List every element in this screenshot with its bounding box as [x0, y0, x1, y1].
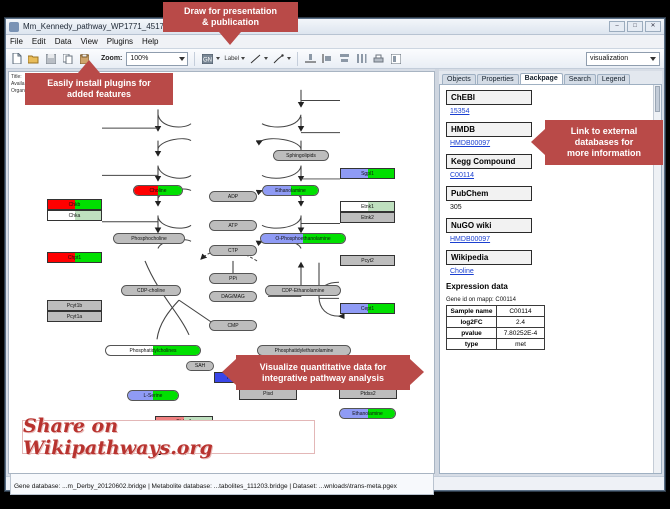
node-label: Etnk1 — [361, 204, 374, 210]
menu-edit[interactable]: Edit — [32, 37, 46, 46]
zoom-value: 100% — [130, 55, 148, 62]
pathway-canvas[interactable]: Title: Availa Organi — [8, 71, 435, 474]
node-label: Phosphatidylethanolamine — [275, 348, 334, 354]
status-bar: Gene database: ...m_Derby_20120602.bridg… — [6, 476, 664, 490]
node-label: CDP-Ethanolamine — [282, 288, 325, 294]
annotation-draw-arrow — [219, 32, 241, 45]
copy-icon[interactable] — [61, 52, 74, 65]
db-heading-pubchem: PubChem — [446, 186, 532, 201]
node-label: Pcyt2 — [361, 258, 374, 264]
annotation-links-arrow — [531, 129, 545, 155]
maximize-button[interactable]: □ — [627, 21, 643, 32]
expression-key: pvalue — [447, 328, 497, 339]
chevron-down-icon — [650, 57, 656, 61]
node-label: Phosphocholine — [131, 236, 167, 242]
annotation-draw-line2: & publication — [202, 17, 259, 28]
db-heading-chebi: ChEBI — [446, 90, 532, 105]
table-row: pvalue7.80252E-4 — [447, 328, 545, 339]
metabolite-ppi[interactable]: PPi — [209, 273, 257, 284]
node-label: ADP — [228, 194, 238, 200]
anchor-line-icon[interactable] — [272, 52, 285, 65]
annotation-links-line1: Link to external — [571, 126, 638, 137]
metabolite-cmp[interactable]: CMP — [209, 320, 257, 331]
new-file-icon[interactable] — [10, 52, 23, 65]
gene-pcyt1a[interactable]: Pcyt1a — [47, 311, 102, 322]
chevron-down-icon[interactable] — [241, 57, 245, 60]
toolbar-separator — [297, 52, 298, 66]
node-label: Pisd — [263, 391, 273, 397]
tab-backpage[interactable]: Backpage — [520, 73, 563, 84]
annotation-visualize-arrow-right — [410, 359, 424, 385]
side-panel-tabs: Objects Properties Backpage Search Legen… — [439, 71, 662, 85]
expression-value: C00114 — [497, 306, 545, 317]
gene-pcyt1b[interactable]: Pcyt1b — [47, 300, 102, 311]
metabolite-cdp-choline[interactable]: CDP-choline — [121, 285, 181, 296]
db-value-pubchem: 305 — [450, 204, 655, 211]
annotation-visualize: Visualize quantitative data for integrat… — [236, 355, 410, 390]
datanode-icon[interactable]: GN — [201, 52, 214, 65]
table-row: typemet — [447, 339, 545, 350]
tab-search[interactable]: Search — [564, 74, 596, 84]
metabolite-dag-mag[interactable]: DAG/MAG — [209, 291, 257, 302]
tab-legend[interactable]: Legend — [597, 74, 630, 84]
db-link-wikipedia[interactable]: Choline — [450, 268, 655, 275]
datanode-tool[interactable]: GN — [201, 52, 220, 65]
node-label: Choline — [150, 188, 167, 194]
menu-file[interactable]: File — [10, 37, 23, 46]
expression-value: met — [497, 339, 545, 350]
node-label: Sgpl1 — [361, 171, 374, 177]
close-button[interactable]: ✕ — [645, 21, 661, 32]
tab-properties[interactable]: Properties — [477, 74, 519, 84]
metabolite-ctp[interactable]: CTP — [209, 245, 257, 256]
gene-chpt1[interactable]: Chpt1 — [47, 252, 102, 263]
node-label: Sphingolipids — [286, 153, 316, 159]
metabolite-adp[interactable]: ADP — [209, 191, 257, 202]
visualization-value: visualization — [590, 55, 628, 62]
annotation-plugins-line1: Easily install plugins for — [47, 78, 151, 89]
node-label: L-Serine — [144, 393, 163, 399]
status-text-container: Gene database: ...m_Derby_20120602.bridg… — [10, 473, 434, 495]
expression-key: Sample name — [447, 306, 497, 317]
zoom-combobox[interactable]: 100% — [126, 52, 188, 66]
open-folder-icon[interactable] — [27, 52, 40, 65]
node-label: O-Phosphoethanolamine — [275, 236, 330, 242]
minimize-button[interactable]: – — [609, 21, 625, 32]
align-left-icon[interactable] — [321, 52, 334, 65]
metabolite-phosphatidylcholines[interactable]: Phosphatidylcholines — [105, 345, 201, 356]
menu-view[interactable]: View — [81, 37, 98, 46]
menu-plugins[interactable]: Plugins — [107, 37, 133, 46]
svg-text:GN: GN — [203, 57, 212, 63]
stack-center-icon[interactable] — [338, 52, 351, 65]
gene-pcyt2[interactable]: Pcyt2 — [340, 255, 395, 266]
db-heading-hmdb: HMDB — [446, 122, 532, 137]
metabolite-phosphocholine[interactable]: Phosphocholine — [113, 233, 185, 244]
expression-data-heading: Expression data — [446, 282, 655, 291]
node-label: Chpt1 — [68, 255, 81, 261]
tab-objects[interactable]: Objects — [442, 74, 476, 84]
menu-data[interactable]: Data — [55, 37, 72, 46]
node-label: SAH — [195, 363, 205, 369]
annotation-draw-line1: Draw for presentation — [184, 6, 277, 17]
node-label: Ethanolamine — [352, 411, 383, 417]
toolbar: Zoom: 100% GN Label — [6, 49, 664, 69]
annotation-links-line3: more information — [567, 148, 641, 159]
expression-table: Sample nameC00114log2FC2.4pvalue7.80252E… — [446, 305, 545, 350]
gene-chkb[interactable]: Chkb — [47, 199, 102, 210]
metabolite-sah[interactable]: SAH — [186, 361, 214, 371]
annotation-share: Share on Wikipathways.org — [22, 420, 315, 454]
table-row: log2FC2.4 — [447, 317, 545, 328]
expression-value: 7.80252E-4 — [497, 328, 545, 339]
node-label: Pcyt1b — [67, 303, 82, 309]
node-label: Etnk2 — [361, 215, 374, 221]
metabolite-sphingolipids[interactable]: Sphingolipids — [273, 150, 329, 161]
node-label: PPi — [229, 276, 237, 282]
gene-cept1[interactable]: Cept1 — [340, 303, 395, 314]
gene-id-line: Gene id on mapp: C00114 — [446, 297, 655, 303]
node-label: CMP — [227, 323, 238, 329]
db-link-nugo-wiki[interactable]: HMDB00097 — [450, 236, 655, 243]
anchor-line-tool[interactable] — [272, 52, 291, 65]
line-icon[interactable] — [249, 52, 262, 65]
node-label: Cept1 — [361, 306, 374, 312]
db-link-chebi[interactable]: 15354 — [450, 108, 655, 115]
metabolite-l-serine-left[interactable]: L-Serine — [127, 390, 179, 401]
node-label: Pcyt1a — [67, 314, 82, 320]
annotation-links: Link to external databases for more info… — [545, 120, 663, 165]
distribute-icon[interactable] — [355, 52, 368, 65]
node-label: Chkb — [69, 202, 81, 208]
label-tool[interactable]: Label — [224, 56, 245, 62]
gene-sgpl1[interactable]: Sgpl1 — [340, 168, 395, 179]
title-bar: Mm_Kennedy_pathway_WP1771_45176.gpml – □… — [6, 19, 664, 35]
gene-etnk2[interactable]: Etnk2 — [340, 212, 395, 223]
scrollbar-thumb[interactable] — [655, 86, 660, 112]
node-label: DAG/MAG — [221, 294, 245, 300]
expression-key: type — [447, 339, 497, 350]
db-heading-kegg-compound: Kegg Compound — [446, 154, 532, 169]
annotation-visualize-arrow-left — [222, 359, 236, 385]
db-heading-nugo-wiki: NuGO wiki — [446, 218, 532, 233]
toolbar-separator — [194, 52, 195, 66]
metabolite-ethanolamine-top[interactable]: Ethanolamine — [262, 185, 319, 196]
menu-help[interactable]: Help — [142, 37, 158, 46]
line-tool[interactable] — [249, 52, 268, 65]
align-bottom-icon[interactable] — [304, 52, 317, 65]
chevron-down-icon[interactable] — [216, 57, 220, 60]
print-icon[interactable] — [372, 52, 385, 65]
app-icon — [9, 22, 19, 32]
annotation-links-line2: databases for — [575, 137, 634, 148]
database-sections: ChEBI15354HMDBHMDB00097Kegg CompoundC001… — [446, 90, 655, 275]
gene-chka[interactable]: Chka — [47, 210, 102, 221]
node-label: Ptdss2 — [360, 391, 375, 397]
chevron-down-icon[interactable] — [287, 57, 291, 60]
metabolite-choline-top[interactable]: Choline — [133, 185, 183, 196]
annotation-draw: Draw for presentation & publication — [163, 2, 298, 32]
annotation-plugins-line2: added features — [67, 89, 131, 100]
expression-value: 2.4 — [497, 317, 545, 328]
db-heading-wikipedia: Wikipedia — [446, 250, 532, 265]
expression-key: log2FC — [447, 317, 497, 328]
gene-etnk1[interactable]: Etnk1 — [340, 201, 395, 212]
label-tool-text: Label — [224, 56, 239, 62]
annotation-visualize-line2: integrative pathway analysis — [262, 373, 384, 384]
chevron-down-icon — [179, 57, 185, 61]
node-label: Chka — [69, 213, 81, 219]
node-label: CDP-choline — [137, 288, 165, 294]
status-text: Gene database: ...m_Derby_20120602.bridg… — [14, 483, 397, 490]
node-label: Ethanolamine — [275, 188, 306, 194]
metabolite-cdp-ethanolamine[interactable]: CDP-Ethanolamine — [265, 285, 341, 296]
annotation-share-text: Share on Wikipathways.org — [23, 415, 314, 459]
table-row: Sample nameC00114 — [447, 306, 545, 317]
menu-bar: File Edit Data View Plugins Help — [6, 35, 664, 49]
node-label: Phosphatidylcholines — [130, 348, 177, 354]
node-label: CTP — [228, 248, 238, 254]
metabolite-ethanolamine-right[interactable]: Ethanolamine — [339, 408, 396, 419]
chevron-down-icon[interactable] — [264, 57, 268, 60]
annotation-plugins-arrow — [78, 60, 100, 73]
metabolite-ophosphoethanolamine[interactable]: O-Phosphoethanolamine — [260, 233, 346, 244]
db-link-kegg-compound[interactable]: C00114 — [450, 172, 655, 179]
window-controls: – □ ✕ — [609, 21, 661, 32]
save-icon[interactable] — [44, 52, 57, 65]
metabolite-atp[interactable]: ATP — [209, 220, 257, 231]
node-label: ATP — [228, 223, 237, 229]
page-icon[interactable] — [389, 52, 402, 65]
zoom-label: Zoom: — [101, 55, 122, 62]
visualization-combobox[interactable]: visualization — [586, 52, 660, 66]
annotation-plugins: Easily install plugins for added feature… — [25, 73, 173, 105]
annotation-visualize-line1: Visualize quantitative data for — [260, 362, 387, 373]
